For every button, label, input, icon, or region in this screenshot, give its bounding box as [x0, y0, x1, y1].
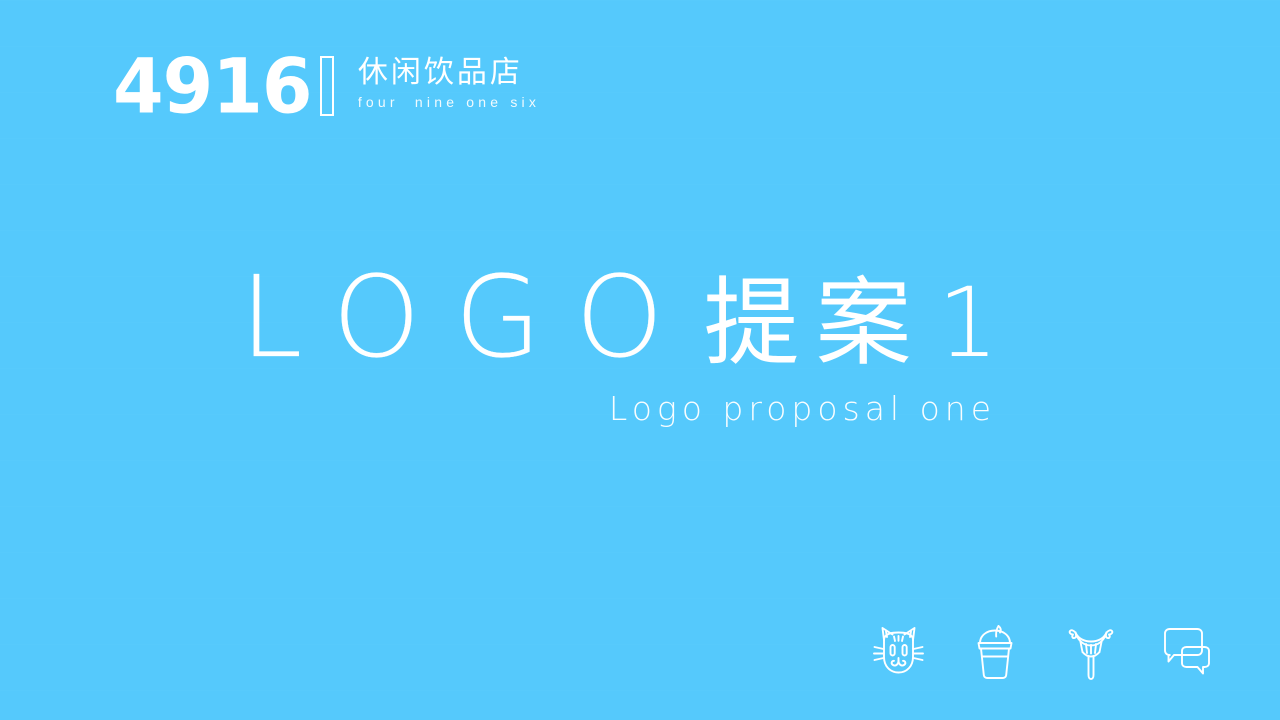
- brand-chinese-name: 休闲饮品店: [358, 56, 540, 90]
- page-title: LOGO 提案 1: [240, 258, 1000, 383]
- title-block: LOGO 提案 1 Logo proposal one: [0, 258, 1280, 429]
- brand-wordmark: 休闲饮品店 four nine one six: [358, 56, 540, 110]
- brand-number: 4916: [113, 53, 311, 120]
- drink-cup-icon: [964, 617, 1026, 687]
- brand-divider-bar: [320, 56, 334, 116]
- slide-canvas: 4916 休闲饮品店 four nine one six LOGO 提案 1 L…: [0, 0, 1280, 720]
- title-latin: LOGO: [240, 258, 698, 378]
- cat-face-icon: [868, 617, 930, 687]
- chat-bubbles-icon: [1156, 617, 1218, 687]
- brand-lockup: 4916 休闲饮品店 four nine one six: [113, 52, 540, 116]
- page-subtitle: Logo proposal one: [240, 389, 1000, 429]
- title-numeral: 1: [938, 263, 999, 383]
- brand-english-name: four nine one six: [358, 94, 540, 110]
- icon-row: [868, 612, 1218, 692]
- sausage-fork-icon: [1060, 617, 1122, 687]
- title-chinese: 提案: [704, 263, 928, 383]
